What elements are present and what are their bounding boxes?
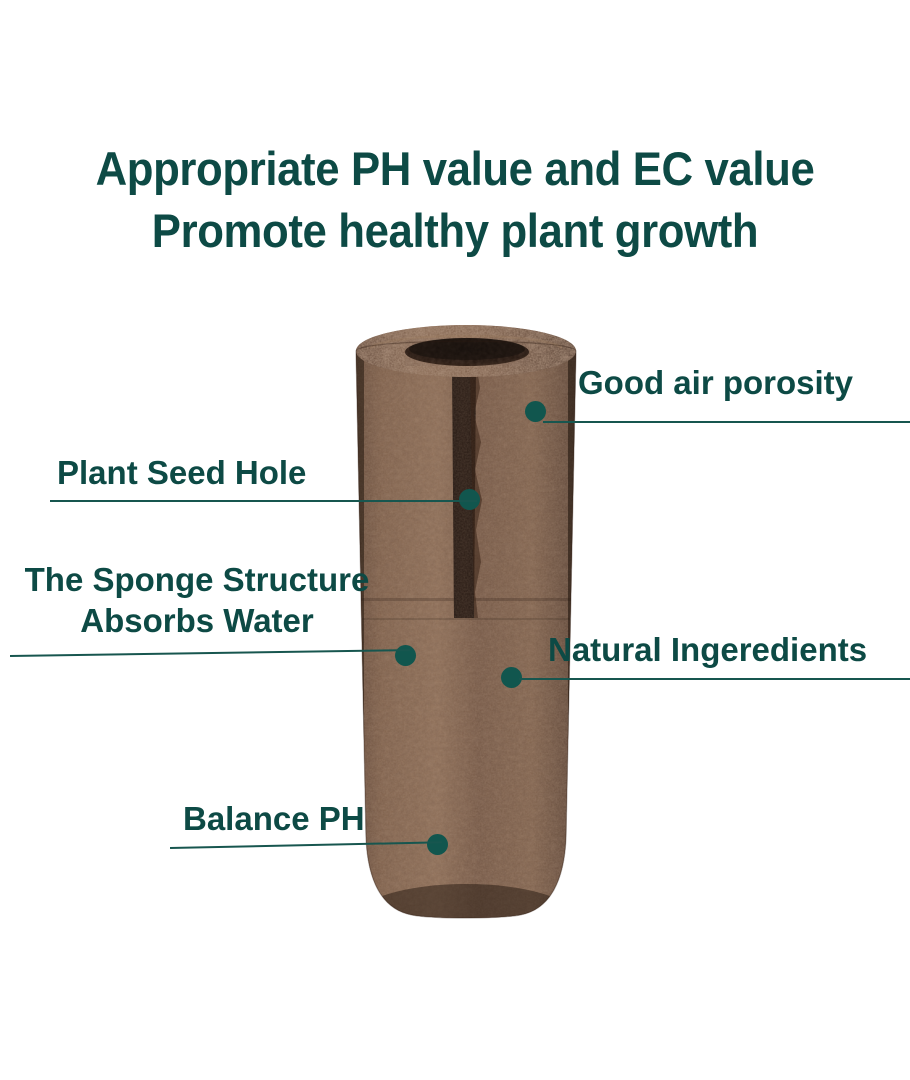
infographic-page: Appropriate PH value and EC value Promot… <box>0 0 910 1080</box>
callout-label-sponge-structure-line-1: The Sponge Structure <box>25 561 370 598</box>
page-title-line-1: Appropriate PH value and EC value <box>32 138 878 200</box>
page-title-line-2: Promote healthy plant growth <box>32 200 878 262</box>
callout-dot-balance-ph <box>427 834 448 855</box>
callout-label-balance-ph: Balance PH <box>183 798 365 839</box>
callout-label-plant-seed-hole: Plant Seed Hole <box>57 452 306 493</box>
callout-line-natural-ingredients <box>519 678 910 680</box>
plug-top-rim <box>356 325 576 377</box>
callout-label-natural-ingredients: Natural Ingeredients <box>548 629 867 670</box>
callout-label-sponge-structure: The Sponge Structure Absorbs Water <box>0 559 394 641</box>
callout-label-good-air-porosity: Good air porosity <box>578 362 853 403</box>
callout-label-sponge-structure-line-2: Absorbs Water <box>80 602 313 639</box>
callout-line-good-air-porosity <box>543 421 910 423</box>
page-title: Appropriate PH value and EC value Promot… <box>32 138 878 262</box>
callout-dot-good-air-porosity <box>525 401 546 422</box>
callout-line-plant-seed-hole <box>50 500 477 502</box>
